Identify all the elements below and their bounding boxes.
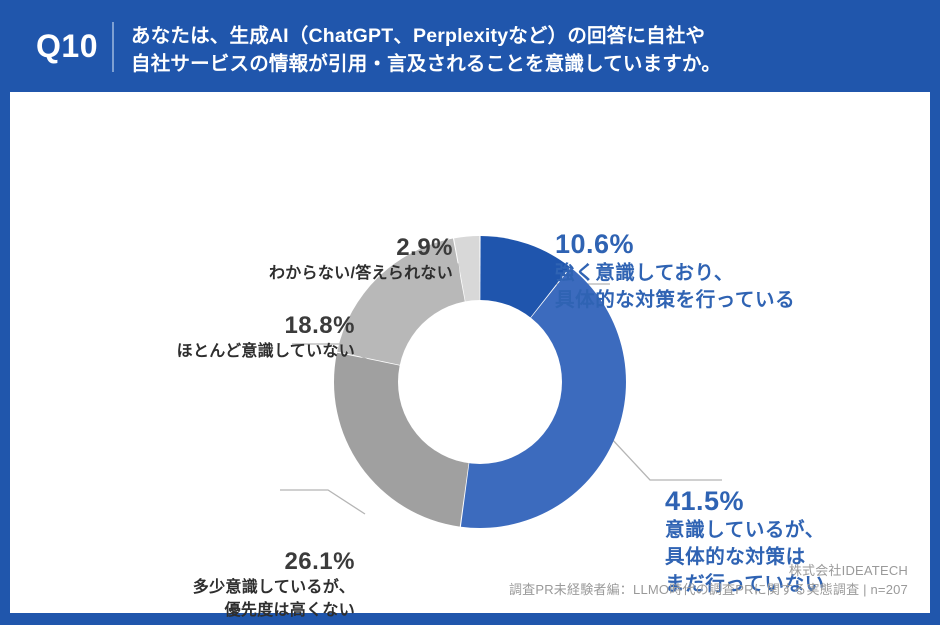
slice-desc-a-line2: 具体的な対策を行っている <box>555 287 795 314</box>
slice-label-e: 26.1% 多少意識しているが、 優先度は高くない <box>70 547 355 622</box>
footer: 株式会社IDEATECH 調査PR未経験者編：LLMO時代の調査PRに関する実態… <box>509 561 908 599</box>
slice-desc-a-line1: 強く意識しており、 <box>555 260 795 287</box>
donut-hole <box>398 300 562 464</box>
slice-percent-b: 41.5% <box>665 485 825 517</box>
slice-desc-e-line2: 優先度は高くない <box>70 599 355 622</box>
slide-header: Q10 あなたは、生成AI（ChatGPT、Perplexityなど）の回答に自… <box>0 0 940 92</box>
slide-root: Q10 あなたは、生成AI（ChatGPT、Perplexityなど）の回答に自… <box>0 0 940 625</box>
slice-desc-c-line1: わからない/答えられない <box>138 262 453 285</box>
question-line-1: あなたは、生成AI（ChatGPT、Perplexityなど）の回答に自社や <box>131 22 911 50</box>
slice-desc-e-line1: 多少意識しているが、 <box>70 576 355 599</box>
leader-line-e <box>280 490 365 514</box>
slice-label-d: 18.8% ほとんど意識していない <box>70 311 355 363</box>
content-panel: 10.6% 強く意識しており、 具体的な対策を行っている 41.5% 意識してい… <box>10 92 930 613</box>
slice-desc-d-line1: ほとんど意識していない <box>70 340 355 363</box>
slice-percent-e: 26.1% <box>70 547 355 576</box>
slice-percent-a: 10.6% <box>555 228 795 260</box>
question-line-2: 自社サービスの情報が引用・言及されることを意識していますか。 <box>131 50 911 78</box>
footer-company: 株式会社IDEATECH <box>509 561 908 580</box>
question-text: あなたは、生成AI（ChatGPT、Perplexityなど）の回答に自社や 自… <box>131 22 911 78</box>
footer-survey: 調査PR未経験者編：LLMO時代の調査PRに関する実態調査 | n=207 <box>509 580 908 599</box>
slice-label-c: 2.9% わからない/答えられない <box>138 233 453 285</box>
donut-chart: 10.6% 強く意識しており、 具体的な対策を行っている 41.5% 意識してい… <box>10 92 930 613</box>
header-divider <box>112 22 114 72</box>
leader-line-b <box>610 437 722 480</box>
slice-percent-c: 2.9% <box>138 233 453 262</box>
slice-desc-b-line1: 意識しているが、 <box>665 517 825 544</box>
slice-label-a: 10.6% 強く意識しており、 具体的な対策を行っている <box>555 228 795 314</box>
question-number: Q10 <box>36 26 112 66</box>
slice-percent-d: 18.8% <box>70 311 355 340</box>
